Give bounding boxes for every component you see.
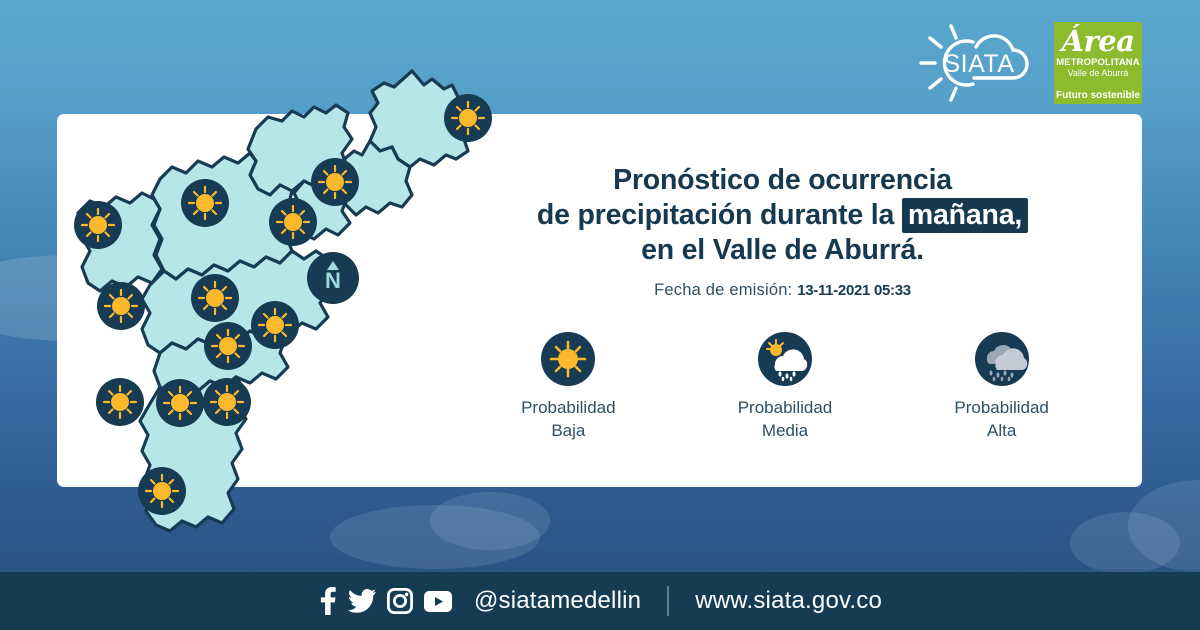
- title-line-2: de precipitación durante la mañana,: [455, 198, 1110, 233]
- map-marker-sun[interactable]: [444, 94, 492, 142]
- map-marker-sun[interactable]: [74, 201, 122, 249]
- am-logo-script: Área: [1061, 24, 1134, 58]
- legend-label-baja-line1: Probabilidad: [481, 396, 656, 419]
- map-marker-sun[interactable]: [181, 179, 229, 227]
- infographic-stage: SIATA Área METROPOLITANA Valle de Aburrá…: [0, 0, 1200, 630]
- map-marker-sun[interactable]: [96, 378, 144, 426]
- title-line-2-text: de precipitación durante la: [537, 199, 902, 231]
- legend-item-alta[interactable]: Probabilidad Alta: [914, 332, 1089, 442]
- valle-de-aburra-map[interactable]: N: [60, 55, 480, 575]
- legend-label-media-line1: Probabilidad: [697, 396, 872, 419]
- social-icons: [318, 587, 452, 615]
- siata-logo-wordmark: SIATA: [943, 50, 1014, 78]
- am-logo-tagline: Futuro sostenible: [1054, 90, 1142, 101]
- facebook-icon[interactable]: [318, 587, 337, 615]
- background-cloud-bottom-right-2: [1070, 512, 1180, 574]
- probability-legend: Probabilidad Baja: [460, 332, 1110, 442]
- map-marker-sun[interactable]: [204, 322, 252, 370]
- footer-divider: [667, 586, 669, 616]
- footer: @siatamedellin www.siata.gov.co: [0, 572, 1200, 630]
- legend-icon-alta: [975, 332, 1029, 386]
- area-metropolitana-logo[interactable]: Área METROPOLITANA Valle de Aburrá Futur…: [1054, 22, 1142, 104]
- sun-icon: [191, 274, 239, 322]
- am-logo-line1: METROPOLITANA: [1056, 58, 1139, 68]
- legend-item-baja[interactable]: Probabilidad Baja: [481, 332, 656, 442]
- sun-icon: [138, 467, 186, 515]
- issue-date-label: Fecha de emisión:: [654, 281, 792, 299]
- social-handle[interactable]: @siatamedellin: [474, 587, 641, 615]
- rain-cloud-icon: [975, 332, 1029, 386]
- legend-item-media[interactable]: Probabilidad Media: [697, 332, 872, 442]
- compass-label: N: [325, 270, 341, 292]
- legend-label-alta: Probabilidad Alta: [914, 396, 1089, 442]
- sun-icon: [156, 379, 204, 427]
- legend-label-alta-line1: Probabilidad: [914, 396, 1089, 419]
- logo-group: SIATA Área METROPOLITANA Valle de Aburrá…: [917, 22, 1142, 104]
- map-marker-sun[interactable]: [311, 158, 359, 206]
- sun-icon: [204, 322, 252, 370]
- legend-label-baja: Probabilidad Baja: [481, 396, 656, 442]
- map-marker-sun[interactable]: [191, 274, 239, 322]
- sun-icon: [444, 94, 492, 142]
- legend-label-baja-line2: Baja: [481, 419, 656, 442]
- page-title: Pronóstico de ocurrencia de precipitació…: [455, 163, 1110, 268]
- siata-logo-icon: SIATA: [917, 22, 1042, 104]
- sun-rain-cloud-icon: [758, 332, 812, 386]
- map-marker-sun[interactable]: [156, 379, 204, 427]
- sun-icon: [97, 282, 145, 330]
- compass-arrow-icon: [327, 261, 339, 270]
- legend-label-alta-line2: Alta: [914, 419, 1089, 442]
- legend-icon-baja: [541, 332, 595, 386]
- sun-icon: [269, 198, 317, 246]
- twitter-icon[interactable]: [348, 589, 376, 613]
- title-line-3: en el Valle de Aburrá.: [455, 233, 1110, 268]
- legend-icon-media: [758, 332, 812, 386]
- sun-icon: [203, 378, 251, 426]
- sun-icon: [251, 301, 299, 349]
- map-marker-sun[interactable]: [269, 198, 317, 246]
- instagram-icon[interactable]: [387, 588, 413, 614]
- am-logo-line2: Valle de Aburrá: [1068, 68, 1129, 78]
- sun-icon: [181, 179, 229, 227]
- title-block: Pronóstico de ocurrencia de precipitació…: [455, 163, 1110, 300]
- map-marker-sun[interactable]: [251, 301, 299, 349]
- sun-icon: [311, 158, 359, 206]
- siata-logo[interactable]: SIATA: [917, 22, 1042, 104]
- sun-icon: [74, 201, 122, 249]
- issue-date: Fecha de emisión: 13-11-2021 05:33: [455, 281, 1110, 300]
- issue-date-value: 13-11-2021 05:33: [797, 282, 911, 299]
- map-marker-sun[interactable]: [203, 378, 251, 426]
- legend-label-media-line2: Media: [697, 419, 872, 442]
- sun-icon: [541, 332, 595, 386]
- website-url[interactable]: www.siata.gov.co: [695, 587, 882, 615]
- title-line-1: Pronóstico de ocurrencia: [455, 163, 1110, 198]
- compass-north: N: [307, 252, 359, 304]
- legend-label-media: Probabilidad Media: [697, 396, 872, 442]
- youtube-icon[interactable]: [424, 591, 452, 612]
- sun-icon: [96, 378, 144, 426]
- title-highlight: mañana,: [902, 198, 1028, 233]
- map-marker-sun[interactable]: [138, 467, 186, 515]
- map-marker-sun[interactable]: [97, 282, 145, 330]
